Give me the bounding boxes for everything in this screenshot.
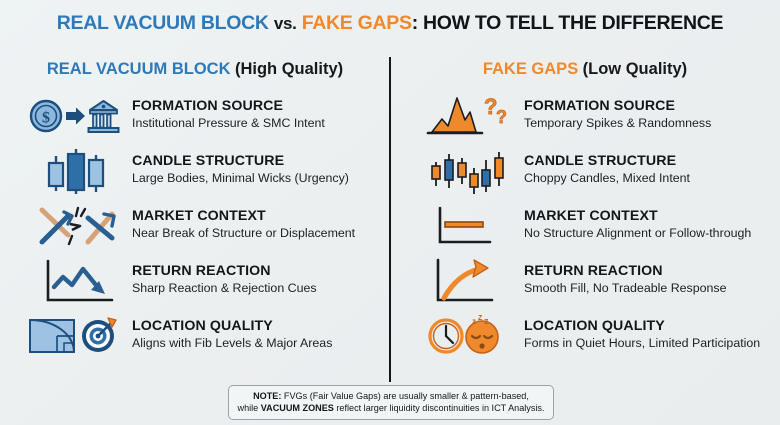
row-text: RETURN REACTION Sharp Reaction & Rejecti…: [128, 264, 317, 296]
row-title: LOCATION QUALITY: [132, 319, 332, 335]
row-candle-structure-right: CANDLE STRUCTURE Choppy Candles, Mixed I…: [390, 143, 780, 198]
row-location-quality-left: LOCATION QUALITY Aligns with Fib Levels …: [0, 308, 390, 363]
svg-text:?: ?: [496, 107, 507, 127]
row-text: RETURN REACTION Smooth Fill, No Tradeabl…: [520, 264, 727, 296]
sharp-drop-chart-icon: [24, 256, 128, 306]
row-subtitle: Temporary Spikes & Randomness: [524, 116, 711, 132]
title-vs: vs.: [274, 14, 297, 33]
row-text: LOCATION QUALITY Forms in Quiet Hours, L…: [520, 319, 760, 351]
spike-question-icon: ? ?: [424, 91, 520, 141]
note-line-2-text: reflect larger liquidity discontinuities…: [334, 403, 545, 413]
header-left: REAL VACUUM BLOCK (High Quality): [0, 54, 390, 84]
title-part-tagline: : HOW TO TELL THE DIFFERENCE: [412, 12, 724, 34]
row-subtitle: Forms in Quiet Hours, Limited Participat…: [524, 336, 760, 352]
row-title: MARKET CONTEXT: [132, 209, 355, 225]
header-right-sub: (Low Quality): [583, 60, 688, 79]
row-text: MARKET CONTEXT Near Break of Structure o…: [128, 209, 355, 241]
row-market-context-right: MARKET CONTEXT No Structure Alignment or…: [390, 198, 780, 253]
svg-text:Z: Z: [478, 315, 483, 322]
money-to-bank-icon: $: [24, 91, 128, 141]
header-right-main: FAKE GAPS: [483, 60, 578, 79]
row-title: CANDLE STRUCTURE: [132, 154, 349, 170]
row-text: FORMATION SOURCE Institutional Pressure …: [128, 99, 325, 131]
clock-sleepy-face-icon: z Z z: [424, 311, 520, 361]
choppy-candles-icon: [424, 146, 520, 196]
row-title: FORMATION SOURCE: [132, 99, 325, 115]
svg-text:z: z: [484, 316, 489, 326]
row-text: CANDLE STRUCTURE Large Bodies, Minimal W…: [128, 154, 349, 186]
row-title: LOCATION QUALITY: [524, 319, 760, 335]
row-subtitle: Choppy Candles, Mixed Intent: [524, 171, 690, 187]
strong-candles-icon: [24, 146, 128, 196]
fibonacci-target-icon: [24, 311, 128, 361]
flat-line-chart-icon: [424, 201, 520, 251]
row-subtitle: Smooth Fill, No Tradeable Response: [524, 281, 727, 297]
header-left-sub: (High Quality): [235, 60, 343, 79]
row-return-reaction-right: RETURN REACTION Smooth Fill, No Tradeabl…: [390, 253, 780, 308]
row-text: CANDLE STRUCTURE Choppy Candles, Mixed I…: [520, 154, 690, 186]
break-of-structure-icon: [24, 201, 128, 251]
left-column: $ FORMATION SOURCE Institutional Pressur…: [0, 88, 390, 363]
row-return-reaction-left: RETURN REACTION Sharp Reaction & Rejecti…: [0, 253, 390, 308]
infographic-page: REAL VACUUM BLOCK vs. FAKE GAPS: HOW TO …: [0, 0, 780, 425]
row-text: LOCATION QUALITY Aligns with Fib Levels …: [128, 319, 332, 351]
row-title: RETURN REACTION: [132, 264, 317, 280]
row-subtitle: Institutional Pressure & SMC Intent: [132, 116, 325, 132]
row-market-context-left: MARKET CONTEXT Near Break of Structure o…: [0, 198, 390, 253]
row-text: MARKET CONTEXT No Structure Alignment or…: [520, 209, 751, 241]
row-subtitle: Sharp Reaction & Rejection Cues: [132, 281, 317, 297]
row-candle-structure-left: CANDLE STRUCTURE Large Bodies, Minimal W…: [0, 143, 390, 198]
row-formation-source-right: ? ? FORMATION SOURCE Temporary Spikes & …: [390, 88, 780, 143]
row-text: FORMATION SOURCE Temporary Spikes & Rand…: [520, 99, 711, 131]
title-part-real-vacuum-block: REAL VACUUM BLOCK: [57, 12, 269, 34]
header-right: FAKE GAPS (Low Quality): [390, 54, 780, 84]
smooth-curve-arrow-icon: [424, 256, 520, 306]
row-title: CANDLE STRUCTURE: [524, 154, 690, 170]
title-part-fake-gaps: FAKE GAPS: [302, 12, 412, 34]
row-formation-source-left: $ FORMATION SOURCE Institutional Pressur…: [0, 88, 390, 143]
row-subtitle: Aligns with Fib Levels & Major Areas: [132, 336, 332, 352]
row-title: RETURN REACTION: [524, 264, 727, 280]
note-line-2: while VACUUM ZONES reflect larger liquid…: [237, 402, 545, 414]
note-line-1: NOTE: FVGs (Fair Value Gaps) are usually…: [237, 390, 545, 402]
row-location-quality-right: z Z z LOCATION QUALITY Forms in Quiet Ho…: [390, 308, 780, 363]
page-title: REAL VACUUM BLOCK vs. FAKE GAPS: HOW TO …: [0, 0, 780, 35]
note-term-vacuum-zones: VACUUM ZONES: [261, 403, 334, 413]
row-subtitle: No Structure Alignment or Follow-through: [524, 226, 751, 242]
right-column: ? ? FORMATION SOURCE Temporary Spikes & …: [390, 88, 780, 363]
note-box: NOTE: FVGs (Fair Value Gaps) are usually…: [228, 385, 554, 420]
note-line-2-prefix: while: [238, 403, 261, 413]
row-title: MARKET CONTEXT: [524, 209, 751, 225]
svg-text:$: $: [42, 109, 50, 126]
svg-text:z: z: [472, 317, 476, 326]
row-title: FORMATION SOURCE: [524, 99, 711, 115]
note-line-1-text: FVGs (Fair Value Gaps) are usually small…: [281, 391, 528, 401]
note-label: NOTE:: [253, 391, 281, 401]
header-left-main: REAL VACUUM BLOCK: [47, 60, 231, 79]
row-subtitle: Large Bodies, Minimal Wicks (Urgency): [132, 171, 349, 187]
row-subtitle: Near Break of Structure or Displacement: [132, 226, 355, 242]
